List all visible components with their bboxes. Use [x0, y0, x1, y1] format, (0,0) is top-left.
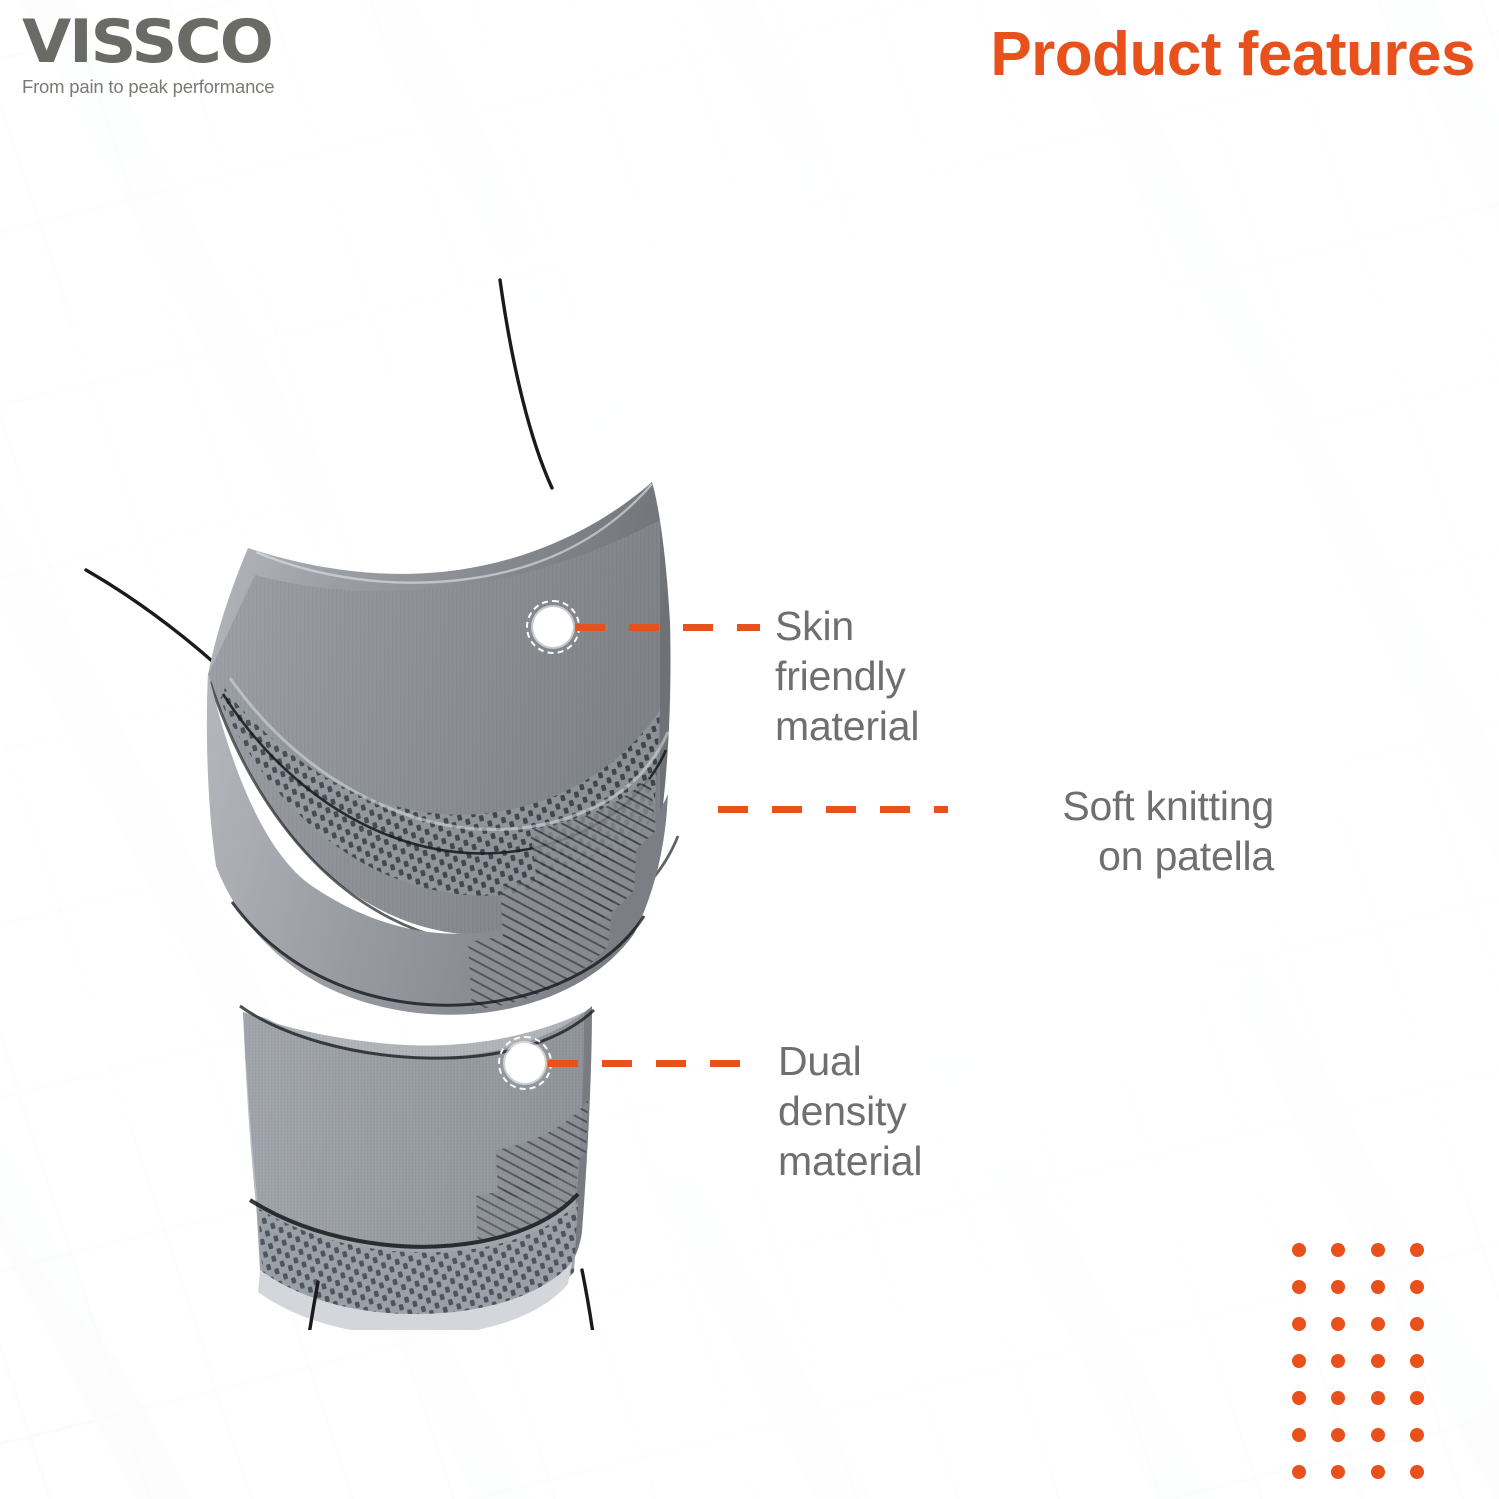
product-feature-infographic: VISSCO From pain to peak performance Pro… — [0, 0, 1499, 1499]
orange-dot-grid — [1279, 1231, 1437, 1499]
dot-grid-dot — [1331, 1428, 1345, 1442]
feature-marker-icon-skin-friendly[interactable] — [533, 607, 573, 647]
dot-grid-dot — [1292, 1428, 1306, 1442]
dot-grid-dot — [1331, 1280, 1345, 1294]
dot-grid-dot — [1292, 1354, 1306, 1368]
dot-grid-dot — [1410, 1465, 1424, 1479]
dot-grid-dot — [1410, 1243, 1424, 1257]
dot-grid-dot — [1371, 1465, 1385, 1479]
dot-grid-dot — [1371, 1354, 1385, 1368]
dot-grid-dot — [1331, 1465, 1345, 1479]
dot-grid-dot — [1292, 1243, 1306, 1257]
dot-grid-dot — [1292, 1391, 1306, 1405]
brand-logo: VISSCO From pain to peak performance — [22, 12, 352, 98]
dot-grid-dot — [1371, 1317, 1385, 1331]
feature-label-skin-friendly-material: Skin friendly material — [775, 601, 919, 751]
leader-line-dual-density — [548, 1060, 758, 1067]
dot-grid-dot — [1331, 1243, 1345, 1257]
dot-grid-dot — [1292, 1465, 1306, 1479]
dot-grid-dot — [1410, 1280, 1424, 1294]
dot-grid-dot — [1371, 1243, 1385, 1257]
leader-line-skin-friendly — [575, 624, 760, 631]
feature-label-dual-density-material: Dual density material — [778, 1036, 922, 1186]
dot-grid-dot — [1371, 1428, 1385, 1442]
brand-wordmark: VISSCO — [22, 12, 372, 72]
dot-grid-dot — [1331, 1354, 1345, 1368]
dot-grid-dot — [1331, 1391, 1345, 1405]
dot-grid-dot — [1371, 1280, 1385, 1294]
dot-grid-dot — [1331, 1317, 1345, 1331]
dot-grid-dot — [1292, 1280, 1306, 1294]
feature-label-soft-knitting-on-patella: Soft knitting on patella — [660, 781, 1274, 881]
dot-grid-dot — [1410, 1391, 1424, 1405]
page-title: Product features — [990, 22, 1475, 87]
dot-grid-dot — [1410, 1428, 1424, 1442]
feature-marker-icon-dual-density[interactable] — [505, 1043, 545, 1083]
dot-grid-dot — [1292, 1317, 1306, 1331]
brand-tagline: From pain to peak performance — [22, 76, 352, 98]
dot-grid-dot — [1371, 1391, 1385, 1405]
dot-grid-dot — [1410, 1317, 1424, 1331]
dot-grid-dot — [1410, 1354, 1424, 1368]
